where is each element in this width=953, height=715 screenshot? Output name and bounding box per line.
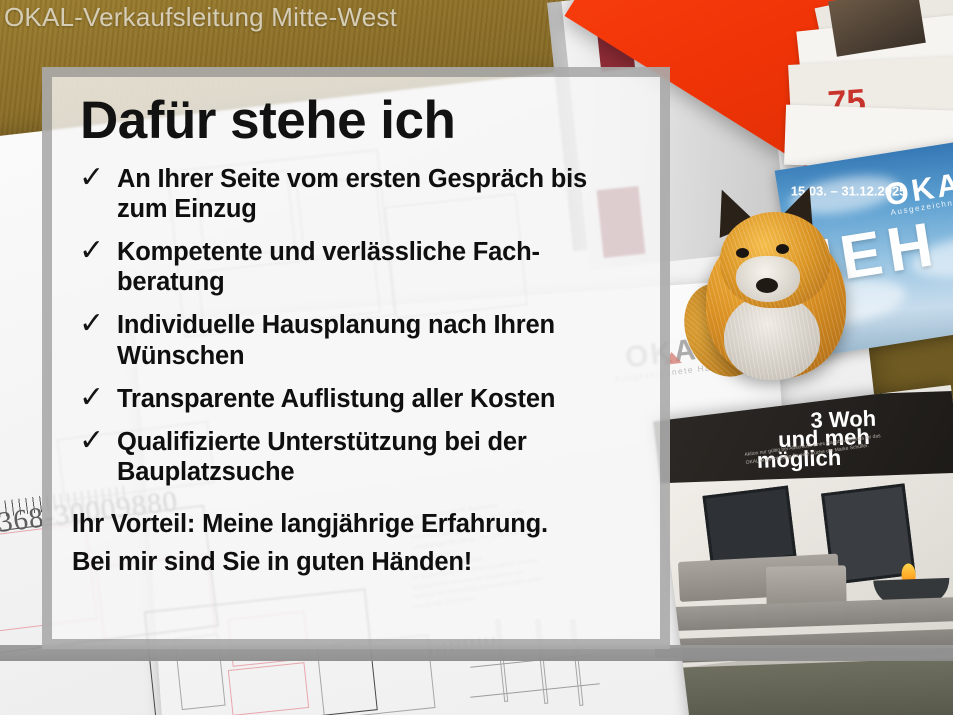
grey-divider-bar-right — [655, 648, 953, 658]
check-icon: ✓ — [79, 423, 104, 458]
fox-plush-toy — [690, 186, 860, 386]
list-item-label: Qualifizierte Unterstützung bei der Baup… — [117, 428, 527, 486]
slide-canvas: 1368-30009880 Datum Unterschrift Bauherr… — [0, 0, 953, 715]
list-item-label: An Ihrer Seite vom ersten Gespräch bis z… — [117, 165, 587, 223]
check-icon: ✓ — [79, 160, 104, 195]
list-item: ✓ Transparente Auflistung aller Kosten — [70, 384, 640, 414]
check-icon: ✓ — [79, 380, 104, 415]
list-item: ✓ Kompetente und verlässliche Fach-berat… — [70, 237, 640, 297]
fox-eye — [736, 248, 749, 258]
list-item-label: Kompetente und verlässliche Fach-beratun… — [117, 238, 540, 296]
list-item: ✓ An Ihrer Seite vom ersten Gespräch bis… — [70, 164, 640, 224]
list-item-label: Transparente Auflistung aller Kosten — [117, 385, 555, 413]
magazine-house-photo: 3 Woh und meh möglich Aktion nur gültig … — [653, 385, 953, 715]
list-item: ✓ Qualifizierte Unterstützung bei der Ba… — [70, 427, 640, 487]
closing-statement: Ihr Vorteil: Meine langjährige Erfahrung… — [72, 509, 640, 578]
closing-line: Bei mir sind Sie in guten Händen! — [72, 547, 640, 578]
magazine-lawn — [677, 656, 953, 715]
benefits-list: ✓ An Ihrer Seite vom ersten Gespräch bis… — [66, 164, 640, 487]
closing-line: Ihr Vorteil: Meine langjährige Erfahrung… — [72, 509, 640, 540]
fox-nose — [756, 278, 778, 293]
page-title: Dafür stehe ich — [80, 93, 640, 148]
magazine-window — [702, 486, 796, 568]
list-item-label: Individuelle Hausplanung nach Ihren Wüns… — [117, 311, 555, 369]
fox-eye — [776, 244, 789, 254]
content-panel: Dafür stehe ich ✓ An Ihrer Seite vom ers… — [42, 67, 670, 649]
check-icon: ✓ — [79, 306, 104, 341]
list-item: ✓ Individuelle Hausplanung nach Ihren Wü… — [70, 310, 640, 370]
check-icon: ✓ — [79, 233, 104, 268]
